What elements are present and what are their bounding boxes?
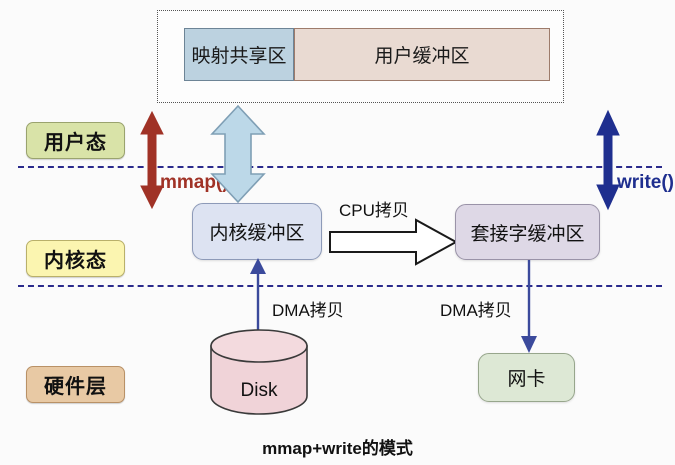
mmap-arrow (137, 110, 167, 210)
nic-box: 网卡 (478, 353, 575, 402)
kernel-hardware-divider (18, 285, 662, 287)
disk-label: Disk (209, 380, 309, 402)
layer-chip-hardware-label: 硬件层 (44, 370, 107, 399)
layer-chip-kernel-label: 内核态 (44, 244, 107, 273)
layer-chip-user: 用户态 (26, 122, 125, 159)
layer-chip-hardware: 硬件层 (26, 366, 125, 403)
mmap-mapping-block-arrow (209, 104, 267, 204)
mapped-shared-region-label: 映射共享区 (191, 41, 286, 68)
kernel-buffer-label: 内核缓冲区 (209, 218, 304, 245)
kernel-buffer-box: 内核缓冲区 (192, 203, 322, 260)
cpu-copy-label: CPU拷贝 (339, 196, 409, 221)
dma-copy-in-label: DMA拷贝 (272, 296, 344, 321)
layer-chip-kernel: 内核态 (26, 240, 125, 277)
write-arrow (595, 110, 621, 210)
nic-label: 网卡 (507, 364, 545, 391)
user-buffer-box: 用户缓冲区 (294, 28, 550, 81)
diagram-caption: mmap+write的模式 (0, 434, 675, 459)
mapped-shared-region-box: 映射共享区 (184, 28, 294, 81)
user-buffer-label: 用户缓冲区 (374, 41, 469, 68)
socket-buffer-box: 套接字缓冲区 (455, 204, 600, 260)
layer-chip-user-label: 用户态 (44, 126, 107, 155)
dma-copy-in-arrow (247, 258, 269, 336)
socket-buffer-label: 套接字缓冲区 (470, 219, 584, 246)
dma-copy-out-arrow (518, 260, 540, 353)
cpu-copy-block-arrow (328, 218, 458, 266)
disk-cylinder: Disk (209, 328, 309, 414)
dma-copy-out-label: DMA拷贝 (440, 296, 512, 321)
diagram-canvas: 映射共享区 用户缓冲区 用户态 内核态 硬件层 mmap() write() (0, 0, 675, 465)
write-label: write() (617, 172, 674, 194)
user-kernel-divider (18, 166, 662, 168)
